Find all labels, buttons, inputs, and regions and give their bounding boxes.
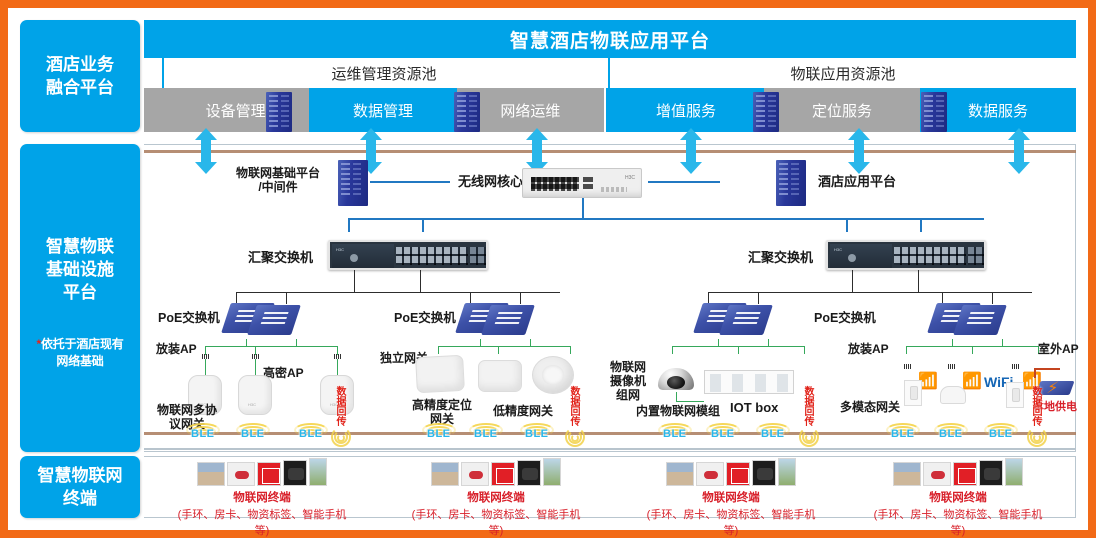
agg-left-poe-bus	[236, 292, 560, 293]
hotel-app-rack-icon	[776, 160, 806, 206]
data-return-label-2: 数据回传	[568, 386, 579, 426]
core-downlink-stem	[582, 198, 584, 218]
ble-label-11: BLE	[939, 428, 963, 440]
g3-drop-3	[804, 346, 805, 354]
thumb-smart-phone	[778, 458, 796, 486]
ble-label-10: BLE	[891, 428, 915, 440]
aggregation-switch-left: H3C	[328, 240, 488, 270]
low-precision-gateway-device	[478, 360, 522, 392]
cam-grp-line2: 摄像机	[600, 374, 656, 388]
iot-platform-line1: 物联网基础平台	[222, 166, 334, 180]
label-hotel-app-platform: 酒店应用平台	[818, 175, 896, 189]
bus-drop-right-a	[846, 218, 848, 232]
diagram-root: 酒店业务 融合平台 智慧物联 基础设施 平台 *依托于酒店现有 网络基础 智慧物…	[0, 0, 1096, 538]
wifi-signal-icon-2: 📶	[962, 374, 982, 390]
poe2-access-stem-b	[530, 339, 531, 346]
g1-ap3-lead	[337, 359, 338, 375]
thumb-room-card	[491, 462, 515, 486]
high-precision-gateway-device	[415, 355, 465, 393]
sidebar-mid-title: 智慧物联 基础设施 平台	[46, 235, 114, 304]
sidebar-mid-note: *依托于酒店现有 网络基础	[20, 336, 140, 370]
agg-port-grid-r	[894, 247, 966, 265]
thumb-smart-watch	[517, 460, 541, 486]
poe4-access-stem-b	[1002, 339, 1003, 346]
note-line2: 网络基础	[20, 353, 140, 370]
thumb-room-card	[257, 462, 281, 486]
sidebar-mid-line1: 智慧物联	[46, 235, 114, 258]
sidebar-bot-line2: 终端	[63, 487, 97, 510]
access-bus-g1	[205, 346, 337, 347]
cam-grp-line1: 物联网	[600, 360, 656, 374]
core-ports-secondary	[583, 177, 593, 191]
poe-switch-4	[932, 299, 1006, 339]
pool-lead-ops	[144, 88, 162, 132]
floor-divider-bottom-2	[144, 448, 1076, 450]
label-agg-switch-left: 汇聚交换机	[248, 251, 313, 265]
data-return-label-4: 数据回传	[1030, 386, 1041, 426]
hpgw-line1: 高精度定位	[406, 398, 478, 412]
ble-label-4: BLE	[427, 428, 451, 440]
pool-cells-ops: 设备管理 数据管理 网络运维	[144, 88, 604, 132]
antenna-icon-4	[904, 364, 911, 369]
thumb-smart-phone	[1005, 458, 1023, 486]
outdoor-ap-mount-icon	[1034, 368, 1060, 378]
label-poe-switch-1: PoE交换机	[158, 311, 220, 325]
terminal-group-2: 物联网终端 (手环、房卡、物资标签、智能手机等)	[410, 456, 582, 538]
terminal-title-3: 物联网终端	[645, 489, 817, 505]
terminal-title-1: 物联网终端	[176, 489, 348, 505]
thumb-room-photo	[666, 462, 694, 486]
g3-drop-1	[672, 346, 673, 354]
label-low-precision-gateway: 低精度网关	[493, 404, 553, 418]
poe4-access-stem-a	[952, 339, 953, 346]
agg-right-poe-bus	[708, 292, 1032, 293]
poe-switch-1	[226, 299, 300, 339]
agg-uplink-ports	[470, 247, 486, 265]
note-line1: 依托于酒店现有	[41, 337, 124, 351]
core-downlink-bus	[348, 218, 984, 220]
agg-port-grid	[396, 247, 468, 265]
ble-label-6: BLE	[525, 428, 549, 440]
multimodal-gateway-device	[904, 380, 922, 406]
link-iot-platform-to-core	[370, 181, 450, 183]
server-rack-icon-3	[753, 92, 779, 132]
resource-pool-iot: 物联应用资源池 增值服务 定位服务 数据服务	[604, 58, 1076, 132]
access-bus-g2	[438, 346, 570, 347]
sidebar-item-iot-infrastructure-platform[interactable]: 智慧物联 基础设施 平台 *依托于酒店现有 网络基础	[20, 144, 140, 452]
label-group-indoor-ap-1: 放装AP	[156, 342, 197, 356]
pool-cells-iot: 增值服务 定位服务 数据服务	[606, 88, 1076, 132]
down-arrow-5	[848, 144, 870, 174]
poe3-access-stem-b	[768, 339, 769, 346]
down-arrow-6	[1008, 144, 1030, 174]
poe3-access-stem-a	[718, 339, 719, 346]
agg-left-drop-b	[420, 270, 421, 292]
iot-camera-device	[658, 368, 694, 394]
agg-uplink-ports-r	[968, 247, 984, 265]
label-poe-switch-3: PoE交换机	[814, 311, 876, 325]
g2-drop-2	[498, 346, 499, 354]
resource-pool-ops: 运维管理资源池 设备管理 数据管理 网络运维	[144, 58, 604, 132]
poe-switch-2	[460, 299, 534, 339]
label-multimodal-gateway: 多模态网关	[840, 400, 900, 414]
label-group-iot-camera-network: 物联网 摄像机 组网	[600, 360, 656, 402]
bus-drop-right-b	[920, 218, 922, 232]
label-wireless-core: 无线网核心	[458, 175, 523, 189]
server-rack-icon-2	[454, 92, 480, 132]
label-iot-base-platform: 物联网基础平台 /中间件	[222, 166, 334, 194]
agg-left-drop-a	[354, 270, 355, 292]
wireless-core-device: H3C	[522, 168, 642, 198]
ble-label-1: BLE	[191, 428, 215, 440]
label-iot-box: IOT box	[730, 401, 778, 415]
core-brand-mark: H3C	[625, 175, 635, 181]
aggregation-switch-right: H3C	[826, 240, 986, 270]
diagram-canvas: 酒店业务 融合平台 智慧物联 基础设施 平台 *依托于酒店现有 网络基础 智慧物…	[8, 8, 1088, 530]
g1-ap2-lead	[255, 359, 256, 375]
thumb-wristband	[696, 462, 724, 486]
down-arrow-4	[680, 144, 702, 174]
terminal-subtitle-4: (手环、房卡、物资标签、智能手机等)	[872, 506, 1044, 538]
thumb-smart-phone	[309, 458, 327, 486]
g3-drop-2	[738, 346, 739, 354]
ble-label-3: BLE	[299, 428, 323, 440]
wall-panel-device	[1006, 382, 1024, 408]
sidebar-top-line2: 融合平台	[46, 76, 114, 99]
thumb-smart-watch	[979, 460, 1003, 486]
server-rack-icon-1	[266, 92, 292, 132]
terminal-thumbnails-4	[872, 456, 1044, 486]
iot-platform-line2: /中间件	[222, 180, 334, 194]
pool-title-iot: 物联应用资源池	[608, 58, 1076, 88]
thumb-room-photo	[431, 462, 459, 486]
agg-left-panel: H3C	[332, 244, 394, 268]
label-group-indoor-ap-2: 放装AP	[848, 342, 889, 356]
thumb-smart-watch	[283, 460, 307, 486]
camera-lens-icon	[667, 376, 685, 389]
ble-label-12: BLE	[989, 428, 1013, 440]
sidebar-mid-line2: 基础设施	[46, 258, 114, 281]
agg-left-panel-r: H3C	[830, 244, 892, 268]
indoor-ap-device-2: H3C	[238, 375, 272, 415]
g2-drop-3	[570, 346, 571, 354]
service-cell-location[interactable]: 定位服务	[764, 88, 920, 132]
label-agg-switch-right: 汇聚交换机	[748, 251, 813, 265]
floor-divider-top	[144, 150, 1076, 153]
antenna-icon-6	[1012, 364, 1019, 369]
camera-lead-v	[676, 392, 677, 401]
sidebar-item-iot-terminals[interactable]: 智慧物联网 终端	[20, 456, 140, 518]
link-core-to-hotel-app	[648, 181, 720, 183]
poe-switch-3	[698, 299, 772, 339]
terminal-subtitle-1: (手环、房卡、物资标签、智能手机等)	[176, 506, 348, 538]
terminal-subtitle-2: (手环、房卡、物资标签、智能手机等)	[410, 506, 582, 538]
camera-lead-h	[676, 401, 704, 402]
service-cell-value-added[interactable]: 增值服务	[608, 88, 764, 132]
wifi-router-device	[940, 386, 966, 404]
thumb-room-card	[953, 462, 977, 486]
ble-label-5: BLE	[474, 428, 498, 440]
sidebar-top-line1: 酒店业务	[46, 53, 114, 76]
down-arrow-1	[195, 144, 217, 174]
poe2-access-stem-a	[480, 339, 481, 346]
terminal-thumbnails-3	[645, 456, 817, 486]
core-ports	[531, 177, 579, 191]
terminal-group-3: 物联网终端 (手环、房卡、物资标签、智能手机等)	[645, 456, 817, 538]
poe1-access-stem-b	[296, 339, 297, 346]
label-builtin-iot-module: 内置物联网模组	[636, 404, 720, 418]
ble-label-7: BLE	[663, 428, 687, 440]
terminal-title-2: 物联网终端	[410, 489, 582, 505]
pool-title-ops: 运维管理资源池	[162, 58, 604, 88]
mpgw-line1: 物联网多协	[146, 403, 228, 417]
iot-box-device	[704, 370, 794, 394]
thumb-wristband	[227, 462, 255, 486]
cam-grp-line3: 组网	[600, 388, 656, 402]
terminal-thumbnails-2	[410, 456, 582, 486]
terminal-subtitle-3: (手环、房卡、物资标签、智能手机等)	[645, 506, 817, 538]
thumb-wristband	[923, 462, 951, 486]
thumb-wristband	[461, 462, 489, 486]
label-poe-switch-2: PoE交换机	[394, 311, 456, 325]
g2-drop-1	[438, 346, 439, 354]
g4-drop-2	[972, 346, 973, 354]
sidebar-item-hotel-business-platform[interactable]: 酒店业务 融合平台	[20, 20, 140, 132]
server-rack-icon-4	[921, 92, 947, 132]
antenna-icon-5	[948, 364, 955, 369]
sidebar-mid-line3: 平台	[46, 281, 114, 304]
agg-right-drop-a	[852, 270, 853, 292]
terminal-title-4: 物联网终端	[872, 489, 1044, 505]
terminal-group-1: 物联网终端 (手环、房卡、物资标签、智能手机等)	[176, 456, 348, 538]
g1-ap1-lead	[205, 359, 206, 375]
data-return-label-1: 数据回传	[334, 386, 345, 426]
service-cell-data-mgmt[interactable]: 数据管理	[309, 88, 456, 132]
thumb-smart-watch	[752, 460, 776, 486]
data-return-label-3: 数据回传	[802, 386, 813, 426]
terminal-group-4: 物联网终端 (手环、房卡、物资标签、智能手机等)	[872, 456, 1044, 538]
agg-right-drop-b	[918, 270, 919, 292]
core-label-strip	[601, 187, 627, 192]
ble-label-9: BLE	[761, 428, 785, 440]
page-title: 智慧酒店物联应用平台	[144, 20, 1076, 58]
thumb-room-photo	[893, 462, 921, 486]
thumb-room-photo	[197, 462, 225, 486]
thumb-smart-phone	[543, 458, 561, 486]
iot-platform-rack-icon	[338, 160, 368, 206]
poe1-access-stem-a	[246, 339, 247, 346]
sidebar-bot-line1: 智慧物联网	[38, 464, 123, 487]
label-outdoor-ap: 室外AP	[1038, 342, 1079, 356]
g4-drop-1	[906, 346, 907, 354]
thumb-room-card	[726, 462, 750, 486]
bus-drop-left-a	[348, 218, 350, 232]
ble-label-8: BLE	[711, 428, 735, 440]
terminal-thumbnails-1	[176, 456, 348, 486]
ble-label-2: BLE	[241, 428, 265, 440]
bus-drop-left-b	[422, 218, 424, 232]
